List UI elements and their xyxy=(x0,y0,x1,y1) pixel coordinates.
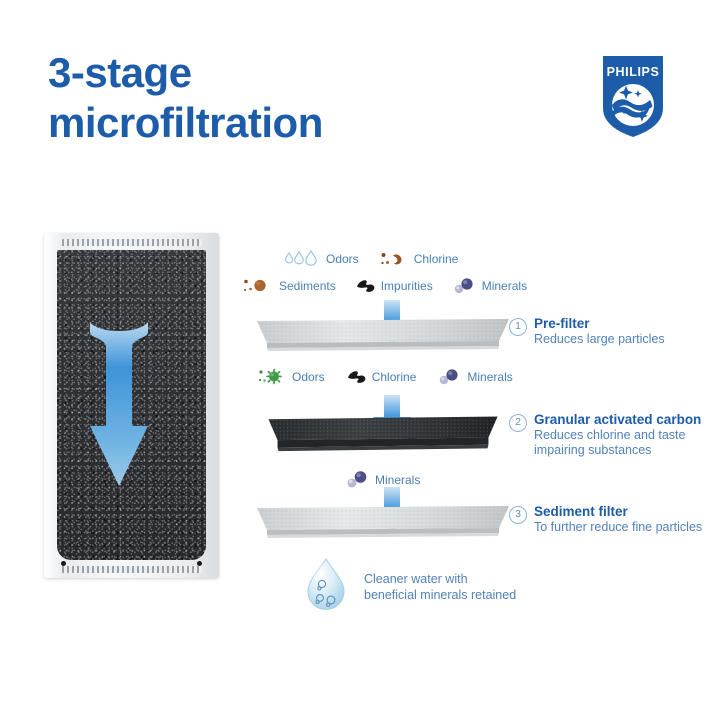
legend-item-impurities: Impurities xyxy=(355,277,433,295)
result-row: Cleaner water with beneficial minerals r… xyxy=(300,556,516,618)
legend-label: Sediments xyxy=(279,279,336,293)
stage2-text-line1: Reduces chlorine and taste xyxy=(534,428,701,443)
result-line-1: Cleaner water with xyxy=(364,571,516,587)
odors-germ-icon xyxy=(258,368,288,386)
stage1-prefilter-plate xyxy=(253,315,513,355)
cartridge-pin-left xyxy=(61,561,66,566)
odors-droplets-icon xyxy=(282,250,322,268)
stage2-number: 2 xyxy=(509,414,527,432)
legend-item-minerals-mid: Minerals xyxy=(437,368,512,386)
stage1-title: Pre-filter xyxy=(534,316,665,332)
legend-label: Minerals xyxy=(467,370,512,384)
legend-row-top-2: Sediments Impurities Minerals xyxy=(243,277,527,295)
stage3-sediment-plate xyxy=(253,502,513,542)
cartridge-vent-bottom xyxy=(62,566,202,573)
stage2-description: 2 Granular activated carbon Reduces chlo… xyxy=(509,412,709,458)
cartridge-pin-right xyxy=(197,561,202,566)
philips-wordmark: PHILIPS xyxy=(607,65,660,79)
legend-item-chlorine: Chlorine xyxy=(380,250,459,268)
legend-item-odors-germ: Odors xyxy=(258,368,325,386)
legend-item-odors: Odors xyxy=(282,250,359,268)
legend-label: Chlorine xyxy=(414,252,459,266)
title-line-2: microfiltration xyxy=(48,98,478,148)
legend-item-minerals: Minerals xyxy=(452,277,527,295)
filter-cartridge xyxy=(44,233,219,578)
page-title: 3-stage microfiltration xyxy=(48,48,478,148)
chlorine-blob-icon xyxy=(380,250,410,268)
stage3-title: Sediment filter xyxy=(534,504,702,520)
water-drop-icon xyxy=(300,556,352,618)
minerals-spheres-icon xyxy=(452,277,478,295)
stage3-description: 3 Sediment filter To further reduce fine… xyxy=(509,504,714,535)
legend-label: Minerals xyxy=(375,473,420,487)
impurities-blob-icon xyxy=(355,277,377,295)
legend-label: Minerals xyxy=(482,279,527,293)
sediments-dots-icon xyxy=(243,277,275,295)
legend-label: Odors xyxy=(326,252,359,266)
chlorine-dark-blob-icon xyxy=(346,368,368,386)
cartridge-flow-arrow-icon xyxy=(82,316,156,516)
legend-label: Impurities xyxy=(381,279,433,293)
cartridge-vent-top xyxy=(62,239,202,246)
philips-shield-icon: PHILIPS xyxy=(600,52,666,138)
stage2-title: Granular activated carbon xyxy=(534,412,701,428)
title-line-1: 3-stage xyxy=(48,49,192,96)
stage3-text: To further reduce fine particles xyxy=(534,520,702,535)
legend-row-top-1: Odors Chlorine xyxy=(282,250,458,268)
stage1-text: Reduces large particles xyxy=(534,332,665,347)
result-text: Cleaner water with beneficial minerals r… xyxy=(364,571,516,603)
stage1-number: 1 xyxy=(509,318,527,336)
minerals-spheres-icon xyxy=(437,368,463,386)
stage2-text-line2: impairing substances xyxy=(534,443,701,458)
stage2-carbon-plate xyxy=(253,412,513,452)
infographic-page: 3-stage microfiltration PHILIPS xyxy=(0,0,720,720)
philips-logo: PHILIPS xyxy=(600,52,666,138)
legend-row-mid: Odors Chlorine Minerals xyxy=(258,368,513,386)
stage3-number: 3 xyxy=(509,506,527,524)
minerals-spheres-icon xyxy=(345,470,371,490)
legend-item-chlorine-dark: Chlorine xyxy=(346,368,417,386)
legend-item-sediments: Sediments xyxy=(243,277,336,295)
legend-label: Odors xyxy=(292,370,325,384)
legend-label: Chlorine xyxy=(372,370,417,384)
result-line-2: beneficial minerals retained xyxy=(364,587,516,603)
stage1-description: 1 Pre-filter Reduces large particles xyxy=(509,316,709,347)
